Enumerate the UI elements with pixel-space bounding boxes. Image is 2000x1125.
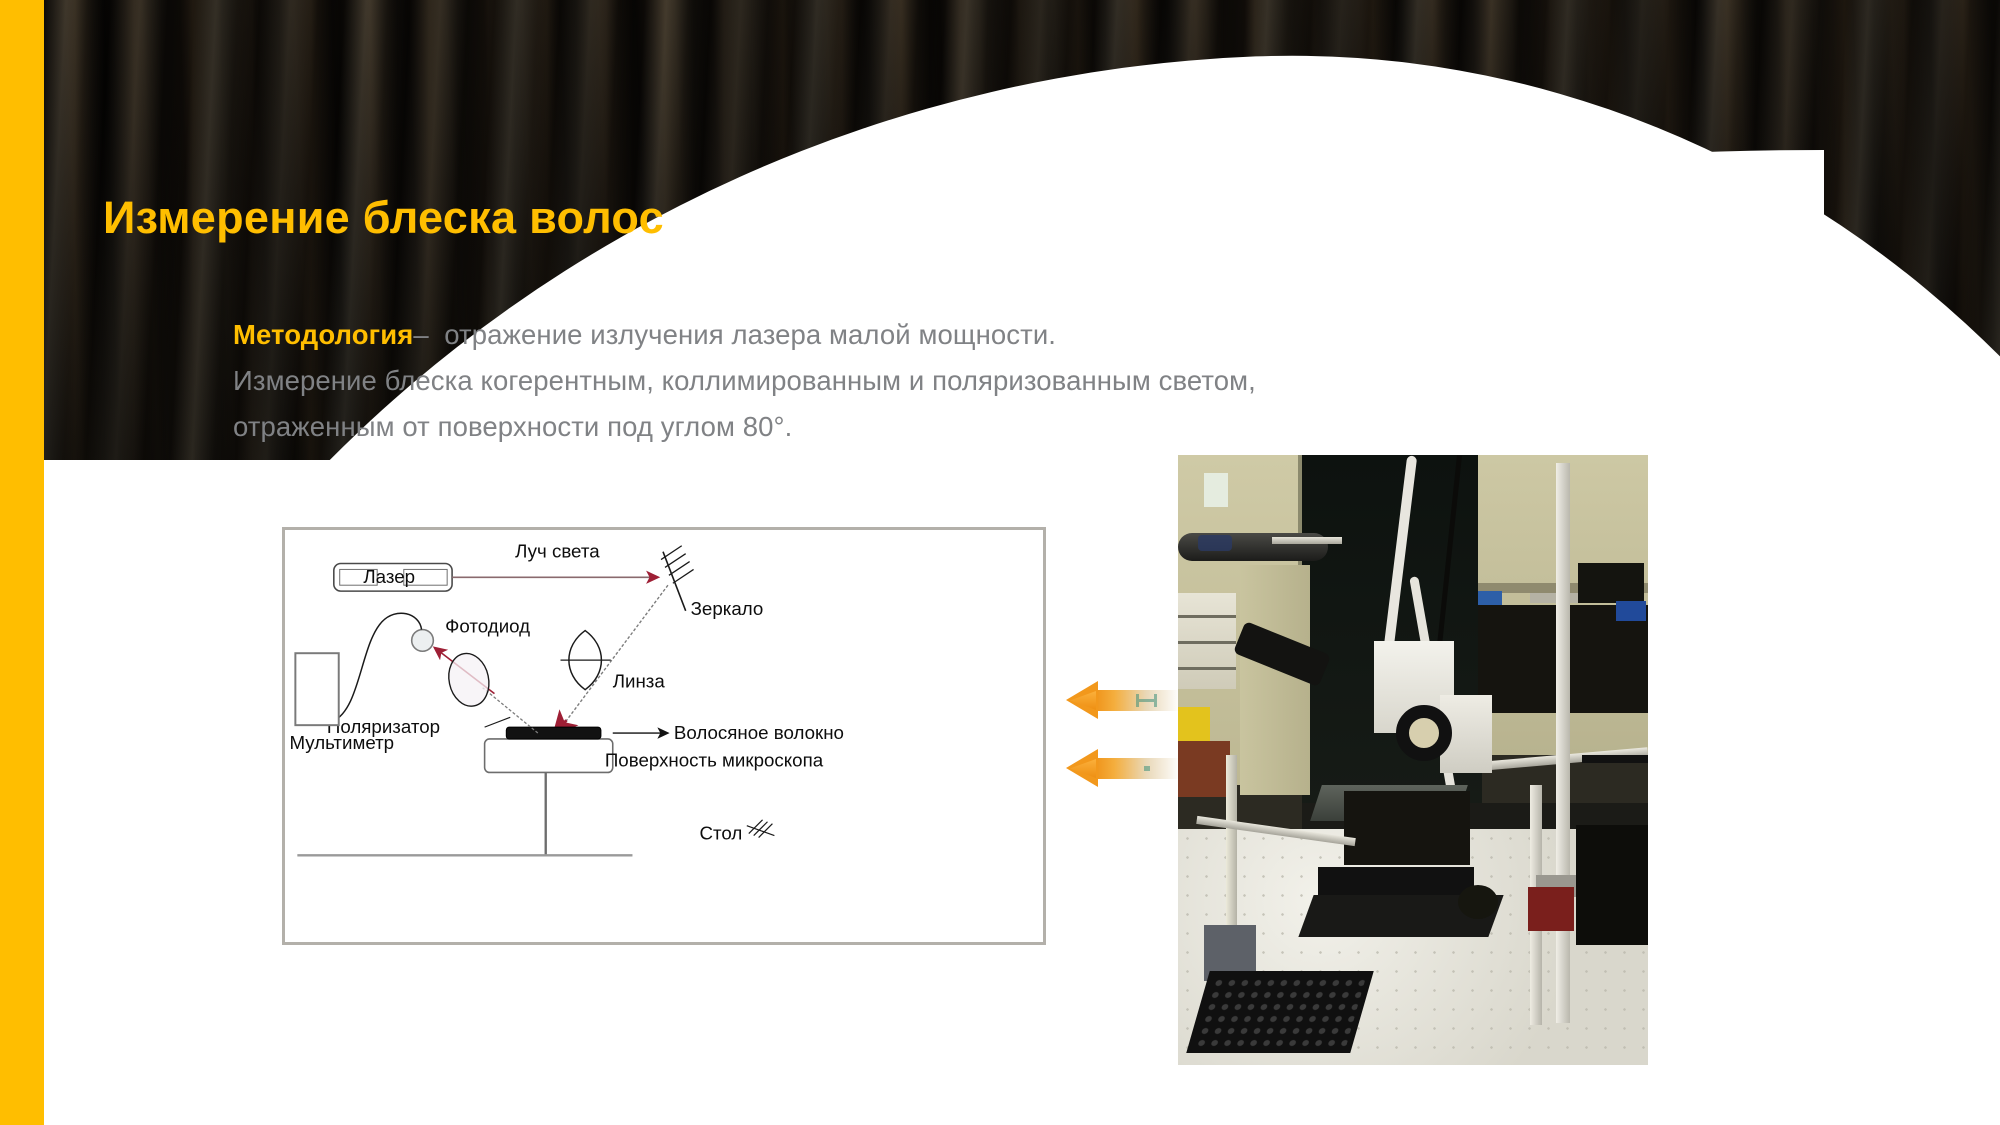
callout-arrow-top[interactable] bbox=[1066, 681, 1186, 721]
multimeter-box bbox=[295, 653, 338, 725]
photo-red-mount bbox=[1528, 887, 1574, 931]
diagram-label-table: Стол bbox=[699, 822, 742, 843]
photo-overhead-rod bbox=[1272, 537, 1342, 544]
diagram-label-lens: Линза bbox=[613, 671, 666, 692]
slide-root: Измерение блеска волос Методология– отра… bbox=[0, 0, 2000, 1125]
diagram-label-laser: Лазер bbox=[363, 566, 415, 587]
left-accent-bar bbox=[0, 0, 44, 1125]
callout-arrow-bottom-marker bbox=[1136, 762, 1158, 775]
table-hatch-icon bbox=[747, 820, 775, 838]
photo-yellow-container bbox=[1178, 707, 1210, 741]
callout-arrow-top-marker bbox=[1136, 694, 1158, 707]
diagram-label-light-beam: Луч света bbox=[515, 541, 600, 562]
methodology-label: Методология bbox=[233, 319, 413, 350]
photo-keyboard-keys bbox=[1194, 977, 1366, 1047]
diagram-label-photodiode: Фотодиод bbox=[445, 616, 530, 637]
page-title: Измерение блеска волос bbox=[103, 192, 664, 244]
hair-fiber-sample bbox=[506, 727, 601, 739]
photo-microscope-lens-ring bbox=[1396, 705, 1452, 761]
diagram-label-mirror: Зеркало bbox=[691, 598, 764, 619]
beam-reflected-segment bbox=[483, 688, 538, 733]
photo-shelf-line-1 bbox=[1178, 615, 1236, 618]
photo-right-dark-equipment bbox=[1576, 825, 1648, 945]
photo-background-blue-item bbox=[1478, 591, 1502, 605]
mirror-element bbox=[661, 546, 694, 611]
diagram-label-multimeter: Мультиметр bbox=[289, 732, 394, 753]
diagram-label-hair-fiber: Волосяное волокно bbox=[674, 722, 844, 743]
polarizer-disc bbox=[444, 650, 494, 710]
microscope-surface-block bbox=[485, 739, 613, 773]
methodology-line2: Измерение блеска когерентным, коллимиров… bbox=[233, 365, 1256, 396]
photo-microscope-midsection bbox=[1344, 791, 1470, 865]
photo-wooden-table bbox=[1178, 741, 1230, 797]
photo-background-equipment bbox=[1578, 563, 1644, 603]
photo-overhead-blue-mount bbox=[1198, 535, 1232, 551]
photo-background-blue-clamp bbox=[1616, 601, 1646, 621]
photo-black-accessory bbox=[1458, 885, 1498, 919]
diagram-canvas: Лазер Луч света Зеркало Линза bbox=[285, 530, 1043, 942]
methodology-paragraph: Методология– отражение излучения лазера … bbox=[233, 312, 1563, 450]
lens-element bbox=[561, 631, 611, 690]
methodology-lead-rest: отражение излучения лазера малой мощност… bbox=[444, 319, 1056, 350]
lab-setup-photograph bbox=[1178, 455, 1648, 1065]
optical-setup-diagram: Лазер Луч света Зеркало Линза bbox=[282, 527, 1046, 945]
photodiode-element bbox=[412, 630, 434, 652]
diagram-label-microscope-surface: Поверхность микроскопа bbox=[605, 750, 824, 771]
methodology-line3: отраженным от поверхности под углом 80°. bbox=[233, 411, 792, 442]
photo-wall-notice bbox=[1204, 473, 1228, 507]
photo-vertical-post-right bbox=[1556, 463, 1570, 1023]
callout-arrow-bottom[interactable] bbox=[1066, 749, 1186, 789]
beam-mirror-to-sample bbox=[561, 585, 667, 727]
methodology-dash: – bbox=[413, 319, 428, 350]
photo-shelf-line-3 bbox=[1178, 667, 1236, 670]
photo-shelf-line-2 bbox=[1178, 641, 1236, 644]
photo-cabinet bbox=[1240, 565, 1310, 795]
polarizer-leader-line bbox=[485, 717, 511, 727]
photo-right-cable bbox=[1582, 755, 1648, 763]
